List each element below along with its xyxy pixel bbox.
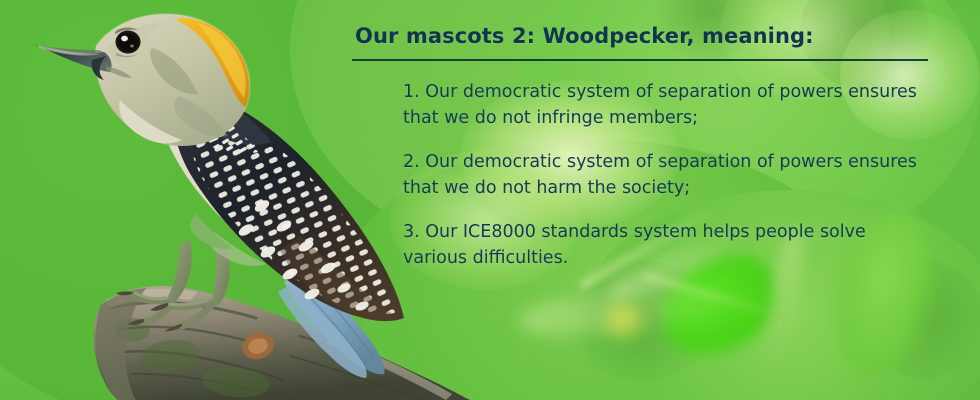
title-divider (352, 59, 928, 61)
mascot-banner: Our mascots 2: Woodpecker, meaning: 1. O… (0, 0, 980, 400)
list-item: 3. Our ICE8000 standards system helps pe… (403, 219, 932, 271)
list-item: 2. Our democratic system of separation o… (403, 149, 932, 201)
page-title: Our mascots 2: Woodpecker, meaning: (355, 22, 932, 50)
head-group (95, 14, 250, 146)
text-panel: Our mascots 2: Woodpecker, meaning: 1. O… (352, 22, 932, 271)
list-item: 1. Our democratic system of separation o… (403, 79, 932, 131)
meaning-list: 1. Our democratic system of separation o… (403, 79, 932, 271)
